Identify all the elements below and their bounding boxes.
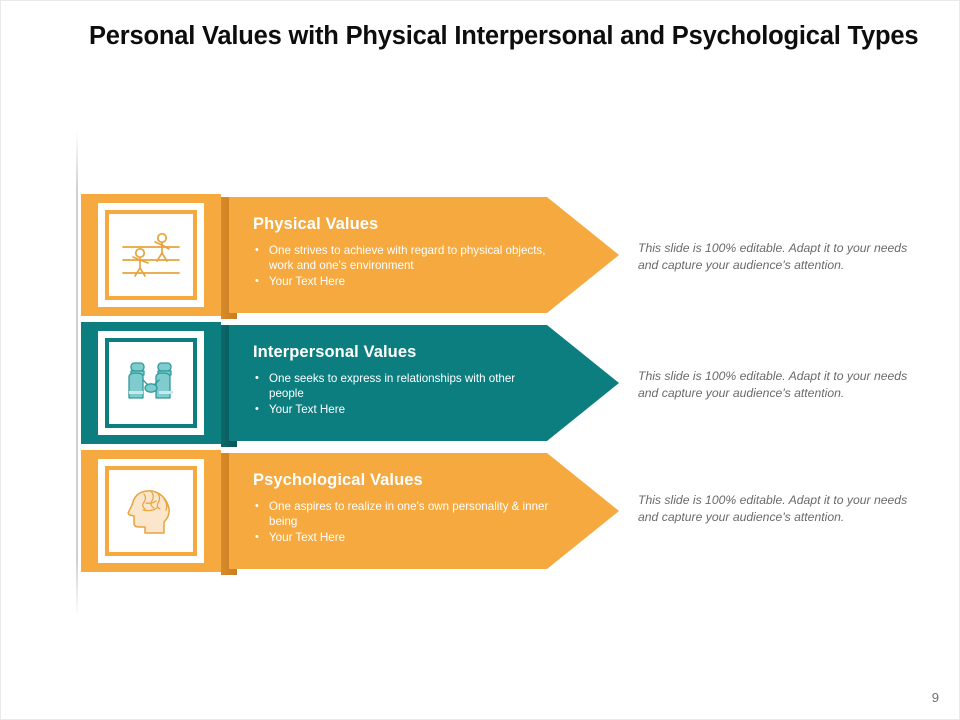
head-brain-icon: [114, 474, 188, 548]
page-title: Personal Values with Physical Interperso…: [89, 21, 899, 52]
page-number: 9: [932, 690, 939, 705]
icon-block-interpersonal: [81, 322, 221, 444]
row-heading: Psychological Values: [253, 471, 423, 490]
icon-frame: [98, 331, 204, 435]
bullet-item: One seeks to express in relationships wi…: [251, 372, 551, 402]
arrow-band-physical[interactable]: Physical Values One strives to achieve w…: [229, 197, 619, 313]
description-interpersonal: This slide is 100% editable. Adapt it to…: [638, 368, 910, 403]
arrow-band-interpersonal[interactable]: Interpersonal Values One seeks to expres…: [229, 325, 619, 441]
arrow-band-psychological[interactable]: Psychological Values One aspires to real…: [229, 453, 619, 569]
icon-frame: [98, 203, 204, 307]
icon-block-psychological: [81, 450, 221, 572]
slide-canvas: Personal Values with Physical Interperso…: [0, 0, 960, 720]
icon-block-physical: [81, 194, 221, 316]
handshake-two-people-icon: [114, 346, 188, 420]
bullet-item: Your Text Here: [251, 403, 551, 418]
icon-frame-inner: [109, 342, 193, 424]
row-bullets: One seeks to express in relationships wi…: [251, 372, 551, 418]
row-heading: Physical Values: [253, 215, 378, 234]
icon-frame-inner: [109, 214, 193, 296]
bullet-item: One strives to achieve with regard to ph…: [251, 244, 551, 274]
icon-frame: [98, 459, 204, 563]
bullet-item: Your Text Here: [251, 531, 551, 546]
two-runners-hurdles-icon: [114, 218, 188, 292]
bullet-item: Your Text Here: [251, 275, 551, 290]
row-bullets: One aspires to realize in one's own pers…: [251, 500, 551, 546]
description-physical: This slide is 100% editable. Adapt it to…: [638, 240, 910, 275]
description-psychological: This slide is 100% editable. Adapt it to…: [638, 492, 910, 527]
row-bullets: One strives to achieve with regard to ph…: [251, 244, 551, 290]
row-heading: Interpersonal Values: [253, 343, 416, 362]
icon-frame-inner: [109, 470, 193, 552]
bullet-item: One aspires to realize in one's own pers…: [251, 500, 551, 530]
